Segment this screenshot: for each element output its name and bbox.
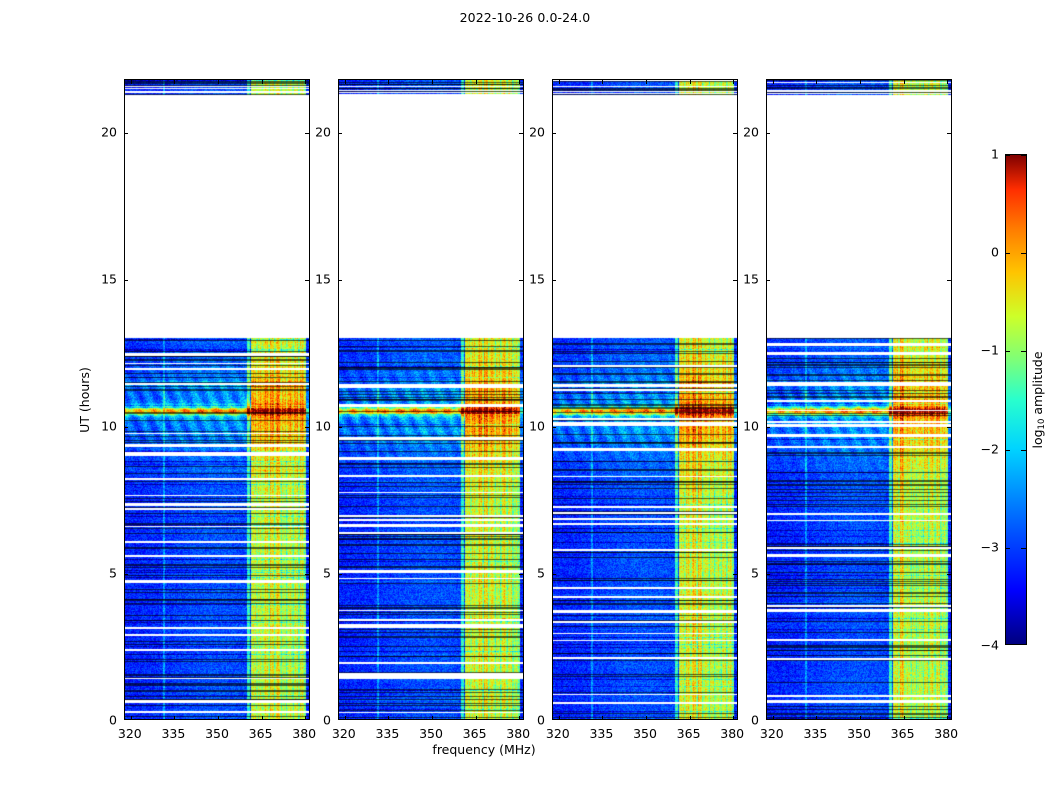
x-tick-top [690, 80, 691, 84]
x-tick-top [388, 80, 389, 84]
x-tick-label: 380 [934, 726, 958, 741]
x-tick-label: 380 [506, 726, 530, 741]
x-tick [305, 716, 306, 720]
x-tick [476, 716, 477, 720]
y-tick-label: 20 [743, 124, 759, 139]
x-tick-label: 320 [760, 726, 784, 741]
colorbar-label-subscript: 10 [1037, 418, 1047, 429]
y-tick-label: 0 [109, 713, 117, 728]
x-tick [947, 716, 948, 720]
colorbar-label: log10 amplitude [1030, 351, 1045, 448]
y-tick-label: 20 [101, 124, 117, 139]
x-tick-top [559, 80, 560, 84]
colorbar-tick-label: −3 [981, 539, 999, 554]
x-axis-label: frequency (MHz) [432, 742, 535, 757]
x-tick-top [773, 80, 774, 84]
x-tick [904, 716, 905, 720]
y-tick-label: 0 [751, 713, 759, 728]
colorbar-tick [1005, 351, 1010, 352]
y-tick-label: 5 [751, 565, 759, 580]
y-tick-right [519, 280, 523, 281]
waterfall-canvas [339, 80, 523, 719]
x-tick-top [432, 80, 433, 84]
x-tick-top [904, 80, 905, 84]
x-tick [860, 716, 861, 720]
x-tick-label: 380 [292, 726, 316, 741]
x-tick-top [305, 80, 306, 84]
y-tick-right [305, 574, 309, 575]
x-tick-label: 365 [463, 726, 487, 741]
x-tick [174, 716, 175, 720]
y-tick [338, 280, 342, 281]
waterfall-image [125, 80, 309, 719]
y-tick [766, 280, 770, 281]
x-tick [602, 716, 603, 720]
colorbar-tick [1005, 155, 1010, 156]
y-tick-right [305, 427, 309, 428]
colorbar-tick-label: −4 [981, 638, 999, 653]
y-tick [766, 574, 770, 575]
y-tick-label: 0 [323, 713, 331, 728]
x-tick [262, 716, 263, 720]
x-tick [646, 716, 647, 720]
x-tick-top [218, 80, 219, 84]
x-tick-label: 335 [161, 726, 185, 741]
colorbar-tick-label: −1 [981, 343, 999, 358]
x-tick-top [345, 80, 346, 84]
colorbar-label-prefix: log [1030, 429, 1045, 448]
y-tick-right [305, 280, 309, 281]
y-tick [124, 280, 128, 281]
x-tick-label: 365 [249, 726, 273, 741]
y-tick-label: 10 [315, 418, 331, 433]
y-tick-right [733, 133, 737, 134]
y-tick-right [947, 427, 951, 428]
y-tick-label: 20 [315, 124, 331, 139]
y-tick [124, 427, 128, 428]
x-tick [432, 716, 433, 720]
y-tick-right [733, 574, 737, 575]
spectrum-panel-xx: XX, V1*V12=EA27*EA10 [124, 79, 310, 720]
y-tick-label: 15 [315, 271, 331, 286]
y-tick-right [519, 427, 523, 428]
spectrum-panel-xy: XY, V1*V12=EA27*EA10 [552, 79, 738, 720]
colorbar-tick [1005, 450, 1010, 451]
x-tick-label: 350 [419, 726, 443, 741]
y-tick-right [305, 133, 309, 134]
colorbar-tick-right [1021, 351, 1026, 352]
colorbar-gradient [1006, 155, 1026, 644]
x-tick [733, 716, 734, 720]
x-tick-label: 320 [546, 726, 570, 741]
waterfall-image [767, 80, 951, 719]
y-tick-label: 15 [101, 271, 117, 286]
y-tick [766, 133, 770, 134]
y-tick-right [947, 574, 951, 575]
y-tick-label: 5 [323, 565, 331, 580]
x-tick-top [476, 80, 477, 84]
spectrum-panel-yy: YY, V1*V12=EA27*EA10 [338, 79, 524, 720]
x-tick [519, 716, 520, 720]
y-tick [124, 574, 128, 575]
x-tick-top [860, 80, 861, 84]
y-tick [552, 133, 556, 134]
x-tick-label: 350 [847, 726, 871, 741]
x-tick-top [646, 80, 647, 84]
x-tick-top [262, 80, 263, 84]
x-tick [345, 716, 346, 720]
colorbar-tick [1005, 253, 1010, 254]
waterfall-image [553, 80, 737, 719]
y-tick-label: 15 [743, 271, 759, 286]
waterfall-canvas [125, 80, 309, 719]
x-tick-top [602, 80, 603, 84]
x-tick-label: 380 [720, 726, 744, 741]
y-tick-label: 10 [101, 418, 117, 433]
colorbar-tick-label: −2 [981, 441, 999, 456]
y-axis-label: UT (hours) [77, 367, 92, 433]
x-tick-label: 365 [891, 726, 915, 741]
x-tick-label: 335 [375, 726, 399, 741]
x-tick-label: 335 [589, 726, 613, 741]
x-tick-top [131, 80, 132, 84]
x-tick-top [519, 80, 520, 84]
colorbar-tick-label: 0 [991, 245, 999, 260]
y-tick [338, 427, 342, 428]
y-tick [124, 133, 128, 134]
y-tick [766, 427, 770, 428]
x-tick [690, 716, 691, 720]
x-tick-label: 365 [677, 726, 701, 741]
y-tick [338, 133, 342, 134]
y-tick-label: 20 [529, 124, 545, 139]
x-tick [559, 716, 560, 720]
y-tick-right [947, 133, 951, 134]
spectrum-panel-yx: YX, V1*V12=EA27*EA10 [766, 79, 952, 720]
colorbar [1005, 154, 1027, 645]
x-tick [816, 716, 817, 720]
waterfall-image [339, 80, 523, 719]
x-tick-label: 320 [118, 726, 142, 741]
y-tick-right [947, 280, 951, 281]
y-tick [552, 280, 556, 281]
colorbar-tick-right [1021, 155, 1026, 156]
x-tick-top [733, 80, 734, 84]
colorbar-tick-right [1021, 253, 1026, 254]
figure-suptitle: 2022-10-26 0.0-24.0 [0, 10, 1050, 25]
y-tick [552, 574, 556, 575]
figure-canvas: 2022-10-26 0.0-24.0 UT (hours) frequency… [0, 0, 1050, 800]
x-tick [218, 716, 219, 720]
y-tick-right [733, 280, 737, 281]
x-tick-top [947, 80, 948, 84]
colorbar-tick-right [1021, 548, 1026, 549]
waterfall-canvas [767, 80, 951, 719]
x-tick-label: 320 [332, 726, 356, 741]
y-tick [338, 574, 342, 575]
y-tick-right [519, 133, 523, 134]
x-tick-label: 350 [205, 726, 229, 741]
x-tick [388, 716, 389, 720]
x-tick-label: 350 [633, 726, 657, 741]
x-tick-top [816, 80, 817, 84]
y-tick-label: 15 [529, 271, 545, 286]
y-tick-label: 5 [109, 565, 117, 580]
colorbar-tick-right [1021, 450, 1026, 451]
y-tick-label: 5 [537, 565, 545, 580]
waterfall-canvas [553, 80, 737, 719]
y-tick [552, 427, 556, 428]
y-tick-right [519, 574, 523, 575]
colorbar-tick [1005, 548, 1010, 549]
colorbar-label-suffix: amplitude [1030, 351, 1045, 418]
y-tick-label: 10 [529, 418, 545, 433]
y-tick-label: 0 [537, 713, 545, 728]
x-tick [131, 716, 132, 720]
y-tick-label: 10 [743, 418, 759, 433]
x-tick [773, 716, 774, 720]
colorbar-tick-label: 1 [991, 147, 999, 162]
x-tick-top [174, 80, 175, 84]
y-tick-right [733, 427, 737, 428]
x-tick-label: 335 [803, 726, 827, 741]
